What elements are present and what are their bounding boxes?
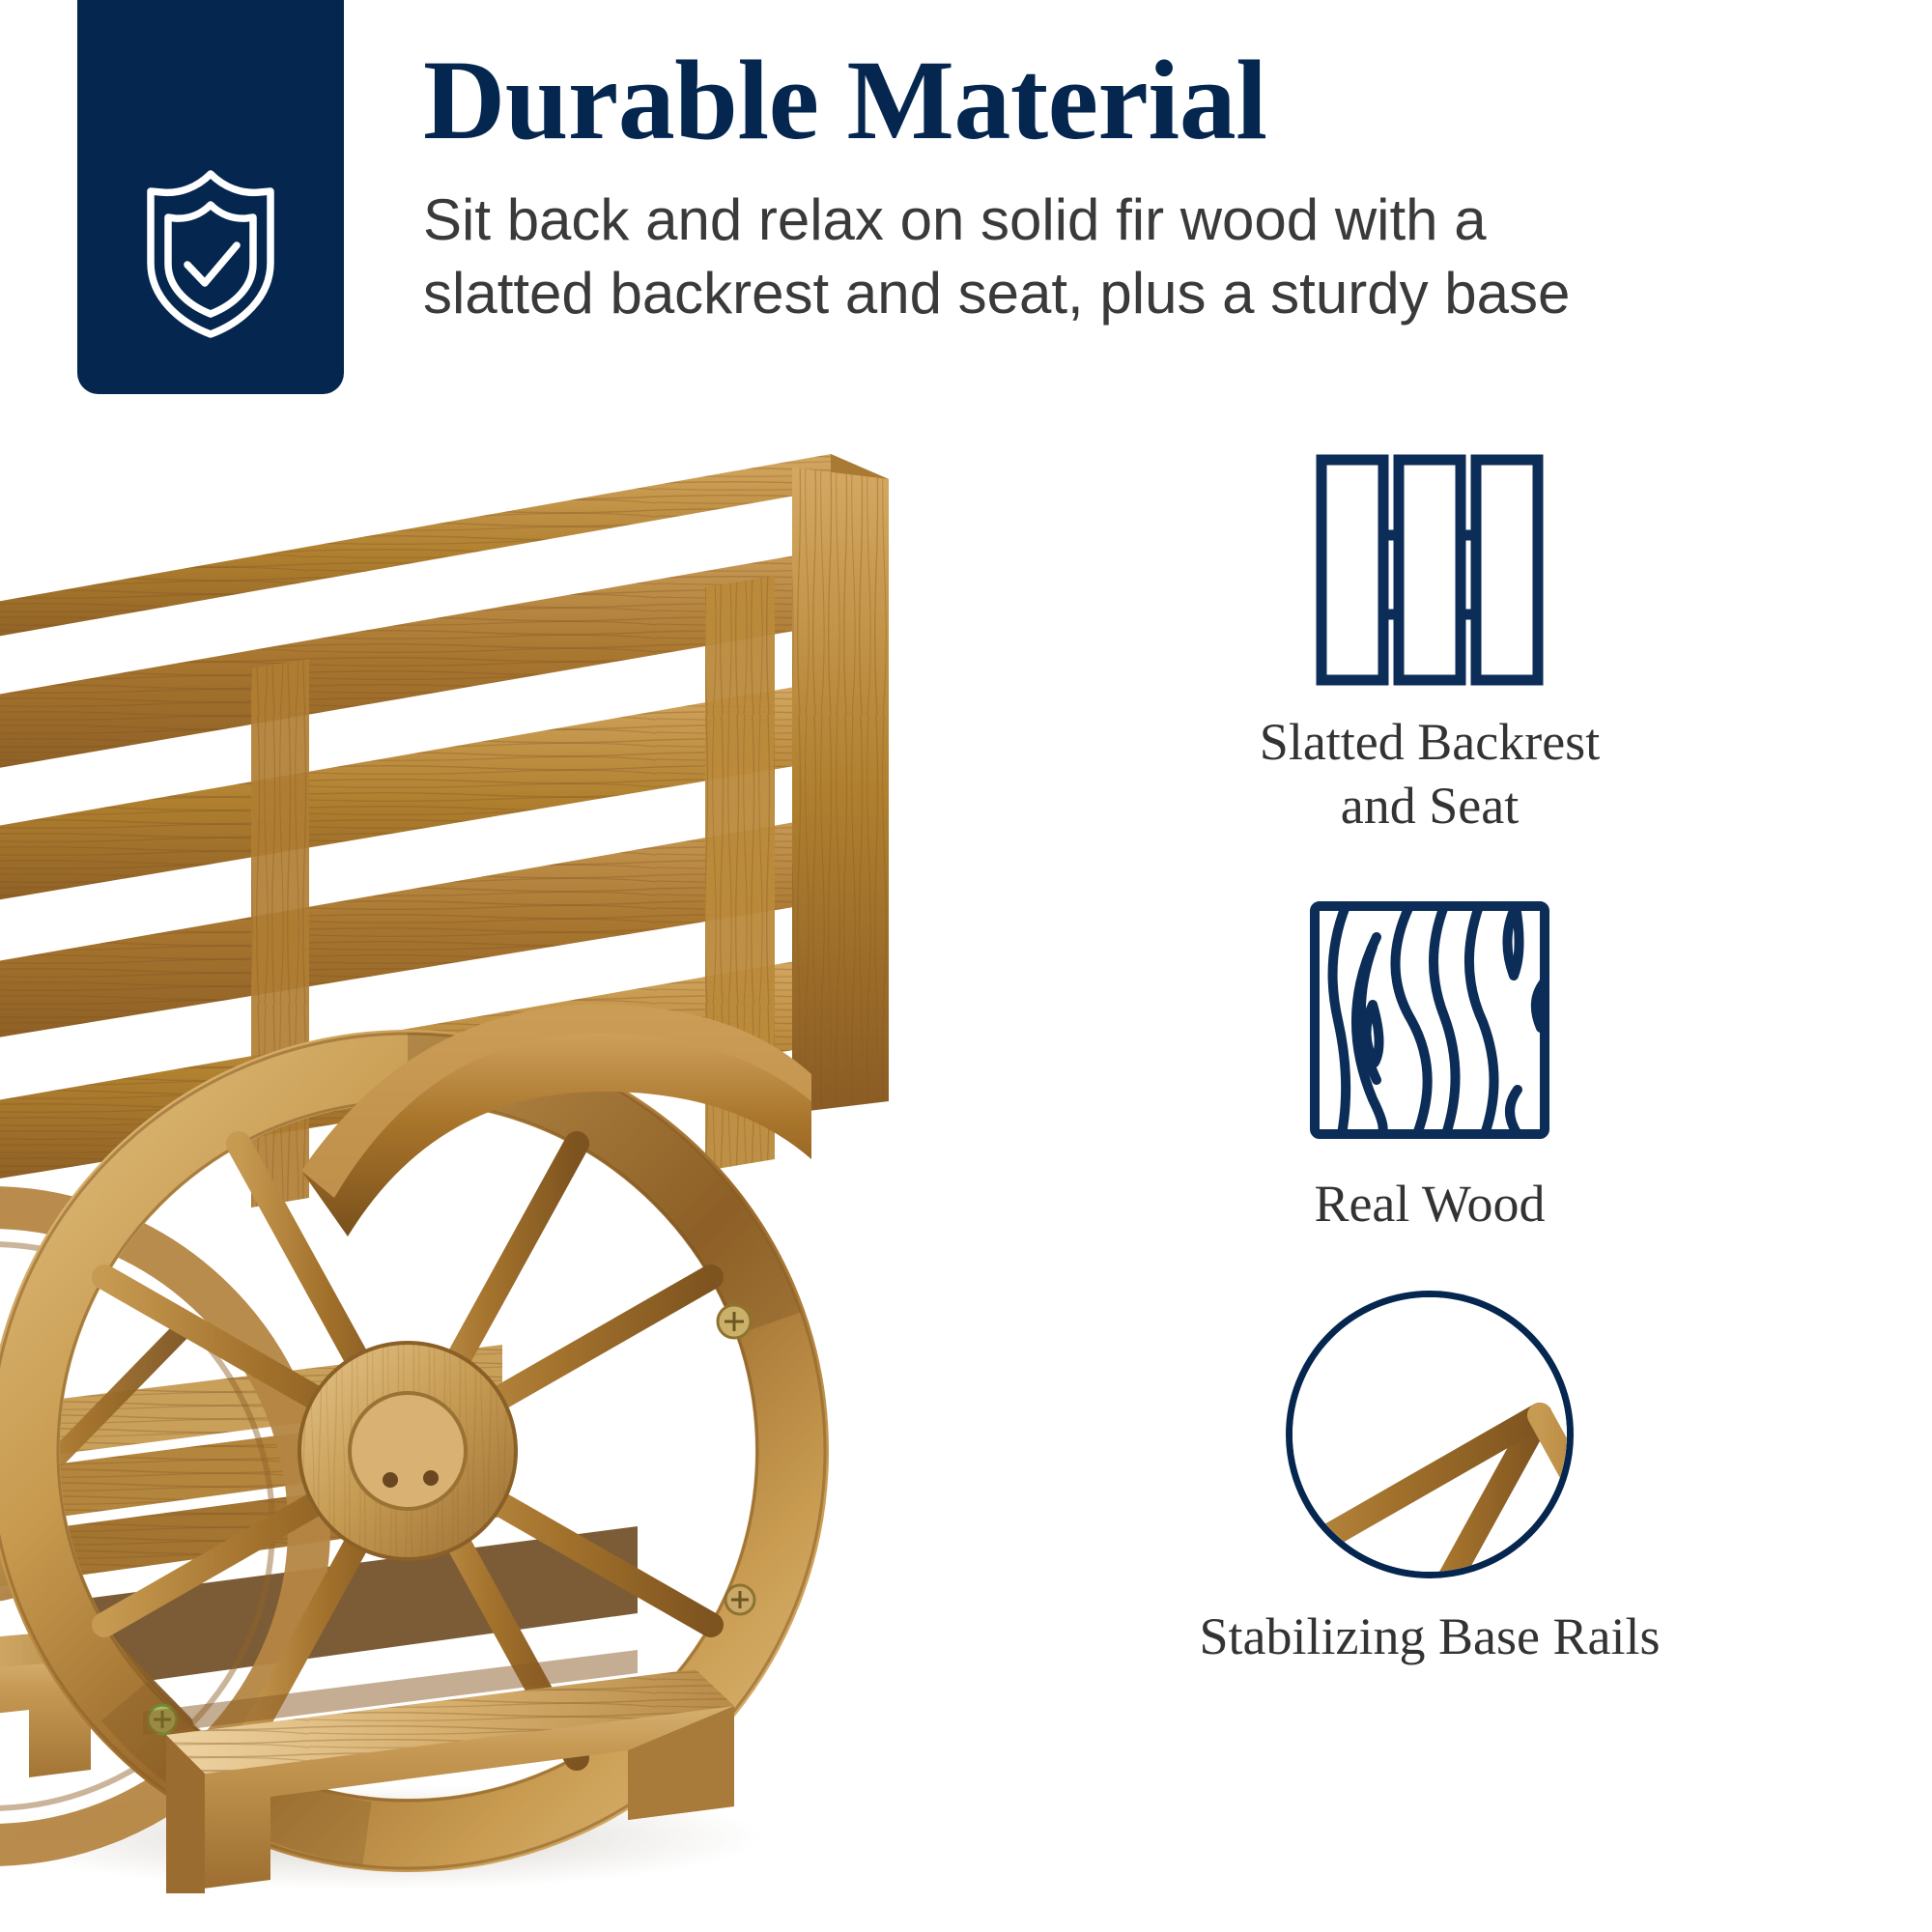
infographic-canvas: Durable Material Sit back and relax on s…	[0, 0, 1932, 1932]
durability-badge	[77, 0, 344, 394]
feature-label: Slatted Backrest and Seat	[1260, 711, 1600, 838]
feature-list: Slatted Backrest and Seat	[1043, 454, 1816, 1669]
feature-label: Real Wood	[1314, 1173, 1545, 1236]
feature-real-wood: Real Wood	[1043, 900, 1816, 1236]
wagon-wheel-bench-photo	[0, 425, 985, 1932]
slats-icon	[1316, 454, 1544, 686]
shield-check-icon	[137, 168, 284, 340]
feature-base-rails: Stabilizing Base Rails	[1043, 1291, 1816, 1669]
wood-grain-icon	[1309, 900, 1550, 1140]
page-subtitle: Sit back and relax on solid fir wood wit…	[423, 184, 1645, 329]
feature-label: Stabilizing Base Rails	[1200, 1605, 1661, 1669]
base-rails-photo-circle	[1286, 1291, 1574, 1578]
header-block: Durable Material Sit back and relax on s…	[423, 43, 1679, 330]
page-title: Durable Material	[423, 43, 1679, 158]
feature-slatted-backrest: Slatted Backrest and Seat	[1043, 454, 1816, 838]
